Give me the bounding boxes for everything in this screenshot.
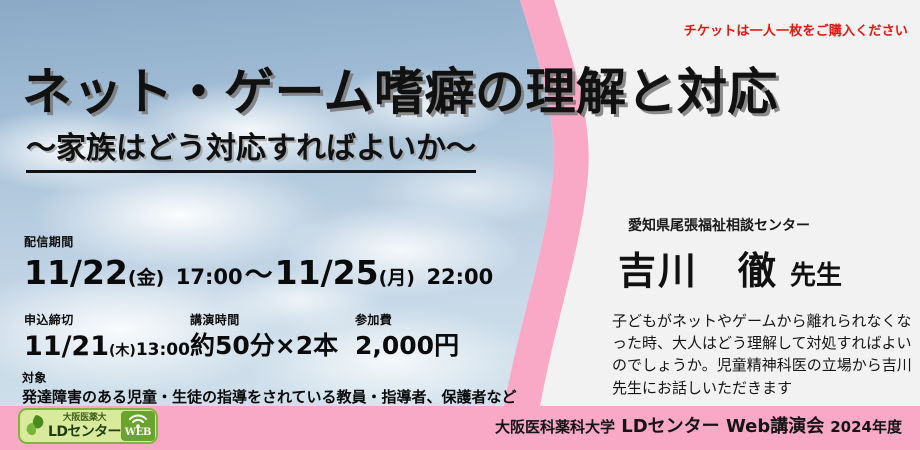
logo-main-text: LDセンター bbox=[48, 425, 121, 439]
page-subtitle: 〜家族はどう対応すればよいか〜 bbox=[26, 123, 476, 173]
speaker-affiliation: 愛知県尾張福祉相談センター bbox=[628, 215, 810, 235]
fee-value: 2,000円 bbox=[355, 333, 459, 358]
audience-value: 発達障害のある児童・生徒の指導をされている教員・指導者、保護者など bbox=[22, 390, 517, 405]
fee-label: 参加費 bbox=[355, 314, 459, 326]
poster-canvas: チケットは一人一枚をご購入ください ネット・ゲーム嗜癖の理解と対応 〜家族はどう… bbox=[0, 0, 920, 450]
streaming-period-block: 配信期間 11/22(金) 17:00〜11/25(月) 22:00 bbox=[24, 236, 493, 289]
audience-block: 対象 発達障害のある児童・生徒の指導をされている教員・指導者、保護者など bbox=[22, 372, 517, 405]
web-badge: WEB bbox=[121, 411, 155, 441]
deadline-value: 11/21(木)13:00 bbox=[24, 333, 190, 360]
wifi-icon bbox=[128, 414, 148, 428]
duration-label: 講演時間 bbox=[190, 314, 338, 326]
streaming-period-label: 配信期間 bbox=[24, 236, 493, 248]
deadline-block: 申込締切 11/21(木)13:00 bbox=[24, 314, 190, 360]
page-title: ネット・ゲーム嗜癖の理解と対応 bbox=[22, 52, 778, 124]
deadline-weekday: (木) bbox=[109, 343, 136, 359]
logo-top-text: 大阪医薬大 bbox=[48, 414, 121, 423]
footer-title: 大阪医科薬科大学 LDセンター Web講演会2024年度 bbox=[495, 412, 902, 438]
duration-block: 講演時間 約50分×2本 bbox=[190, 314, 338, 358]
footer-year: 2024年度 bbox=[824, 418, 902, 436]
duration-value: 約50分×2本 bbox=[190, 333, 338, 358]
stream-start-weekday: (金) bbox=[128, 267, 164, 289]
stream-end-date: 11/25 bbox=[275, 253, 379, 292]
deadline-label: 申込締切 bbox=[24, 314, 190, 326]
stream-end-weekday: (月) bbox=[379, 267, 415, 289]
stream-separator: 〜 bbox=[243, 258, 275, 291]
stream-end-time: 22:00 bbox=[426, 265, 493, 289]
ld-center-logo[interactable]: 大阪医薬大 LDセンター WEB bbox=[18, 408, 158, 444]
speaker-name-row: 吉川 徹先生 bbox=[618, 240, 842, 295]
deadline-date: 11/21 bbox=[24, 331, 109, 362]
leaf-icon bbox=[23, 413, 47, 439]
footer-university: 大阪医科薬科大学 bbox=[495, 418, 615, 436]
footer-center: LDセンター Web講演会 bbox=[621, 416, 824, 437]
speaker-honorific: 先生 bbox=[778, 261, 842, 291]
deadline-time: 13:00 bbox=[136, 340, 190, 360]
ticket-notice: チケットは一人一枚をご購入ください bbox=[684, 20, 908, 39]
speaker-name: 吉川 徹 bbox=[618, 249, 778, 293]
fee-block: 参加費 2,000円 bbox=[355, 314, 459, 358]
stream-start-date: 11/22 bbox=[24, 253, 128, 292]
web-label: WEB bbox=[125, 428, 151, 438]
logo-text-group: 大阪医薬大 LDセンター bbox=[47, 414, 121, 439]
audience-label: 対象 bbox=[22, 372, 517, 384]
streaming-period-value: 11/22(金) 17:00〜11/25(月) 22:00 bbox=[24, 256, 493, 289]
speaker-description: 子どもがネットやゲームから離れられなくなった時、大人はどう理解して対処すればよい… bbox=[612, 310, 912, 399]
stream-start-time: 17:00 bbox=[176, 265, 243, 289]
